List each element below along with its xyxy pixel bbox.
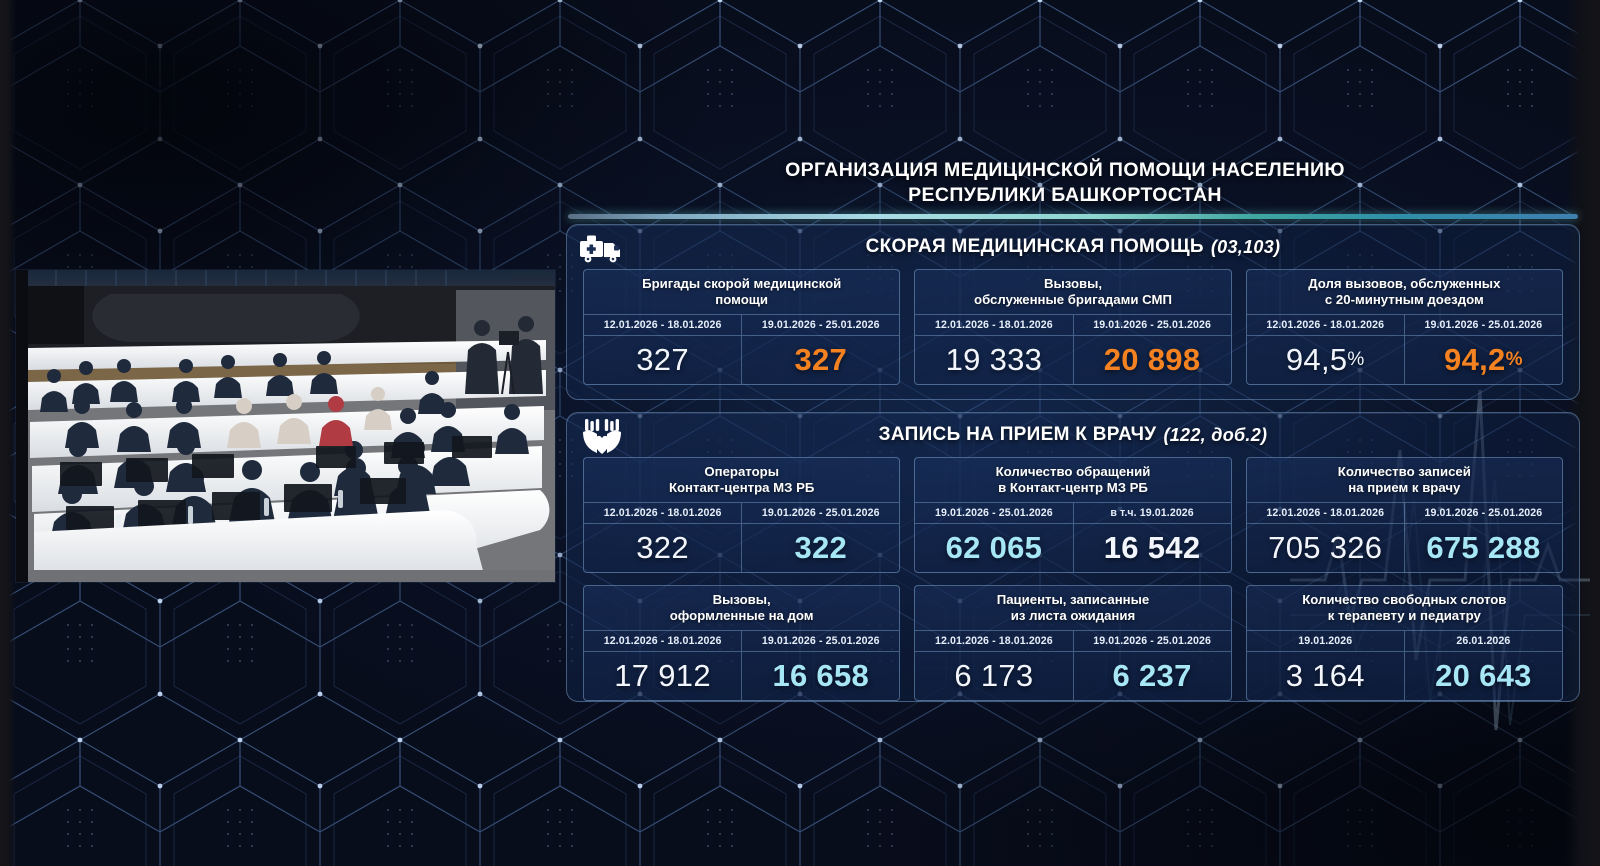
- card-values: 327 327: [584, 336, 899, 384]
- card-value-col1: 327: [584, 336, 741, 384]
- card-value-col1: 322: [584, 524, 741, 572]
- card-emergency-20min-share: Доля вызовов, обслуженных с 20-минутным …: [1246, 269, 1563, 385]
- card-date-col1: 12.01.2026 - 18.01.2026: [584, 631, 741, 651]
- card-title: Вызовы, оформленные на дом: [584, 586, 899, 630]
- card-title-line2: к терапевту и педиатру: [1328, 608, 1481, 624]
- card-values: 62 065 16 542: [915, 524, 1230, 572]
- card-date-col1: 12.01.2026 - 18.01.2026: [584, 503, 741, 523]
- card-date-col2: 19.01.2026 - 25.01.2026: [1404, 315, 1562, 335]
- appointment-cards-row-2: Вызовы, оформленные на дом 12.01.2026 - …: [567, 585, 1579, 701]
- card-date-headers: 12.01.2026 - 18.01.2026 19.01.2026 - 25.…: [1247, 314, 1562, 336]
- card-emergency-brigades: Бригады скорой медицинской помощи 12.01.…: [583, 269, 900, 385]
- panel-appointment-header: ЗАПИСЬ НА ПРИЕМ К ВРАЧУ (122, доб.2): [567, 413, 1579, 457]
- card-title-line1: Количество записей: [1338, 464, 1471, 480]
- card-date-col1: 12.01.2026 - 18.01.2026: [1247, 503, 1404, 523]
- card-value-col2: 16 542: [1073, 524, 1231, 572]
- card-value-col1: 3 164: [1247, 652, 1404, 700]
- emergency-cards-row: Бригады скорой медицинской помощи 12.01.…: [567, 269, 1579, 385]
- card-date-headers: 12.01.2026 - 18.01.2026 19.01.2026 - 25.…: [584, 630, 899, 652]
- card-title-line2: на прием к врачу: [1348, 480, 1460, 496]
- panel-emergency-title: СКОРАЯ МЕДИЦИНСКАЯ ПОМОЩЬ: [866, 236, 1204, 258]
- card-date-col2: 19.01.2026 - 25.01.2026: [741, 503, 899, 523]
- appointment-cards-row-1: Операторы Контакт-центра МЗ РБ 12.01.202…: [567, 457, 1579, 573]
- card-date-headers: 12.01.2026 - 18.01.2026 19.01.2026 - 25.…: [1247, 502, 1562, 524]
- card-title-line1: Вызовы,: [713, 592, 771, 608]
- card-title-line1: Пациенты, записанные: [997, 592, 1150, 608]
- card-title: Вызовы, обслуженные бригадами СМП: [915, 270, 1230, 314]
- card-date-headers: 12.01.2026 - 18.01.2026 19.01.2026 - 25.…: [915, 314, 1230, 336]
- value-unit: %: [1347, 349, 1364, 371]
- card-value-col2: 322: [741, 524, 899, 572]
- card-date-headers: 19.01.2026 - 25.01.2026 в т.ч. 19.01.202…: [915, 502, 1230, 524]
- card-date-col1: 12.01.2026 - 18.01.2026: [915, 631, 1072, 651]
- card-contact-center-operators: Операторы Контакт-центра МЗ РБ 12.01.202…: [583, 457, 900, 573]
- panel-appointment-phone: (122, доб.2): [1163, 425, 1267, 446]
- card-date-col1: 12.01.2026 - 18.01.2026: [915, 315, 1072, 335]
- card-title-line2: помощи: [715, 292, 768, 308]
- panel-doctor-appointment: ЗАПИСЬ НА ПРИЕМ К ВРАЧУ (122, доб.2) Опе…: [566, 412, 1580, 702]
- slide-title-line2: РЕСПУБЛИКИ БАШКОРТОСТАН: [560, 183, 1570, 208]
- card-date-col1: 19.01.2026: [1247, 631, 1404, 651]
- card-title-line1: Количество свободных слотов: [1302, 592, 1506, 608]
- card-date-col2: 26.01.2026: [1404, 631, 1562, 651]
- ambulance-icon-svg: [579, 233, 625, 265]
- panel-emergency-phone: (03,103): [1211, 237, 1280, 258]
- card-title-line2: в Контакт-центр МЗ РБ: [998, 480, 1148, 496]
- ambulance-icon: [577, 229, 627, 269]
- card-value-col1: 62 065: [915, 524, 1072, 572]
- card-date-col2: 19.01.2026 - 25.01.2026: [1404, 503, 1562, 523]
- card-title: Количество обращений в Контакт-центр МЗ …: [915, 458, 1230, 502]
- card-value-col1: 705 326: [1247, 524, 1404, 572]
- card-title: Количество записей на прием к врачу: [1247, 458, 1562, 502]
- card-value-col1: 6 173: [915, 652, 1072, 700]
- card-values: 705 326 675 288: [1247, 524, 1562, 572]
- card-value-col1: 17 912: [584, 652, 741, 700]
- presentation-slide: ОРГАНИЗАЦИЯ МЕДИЦИНСКОЙ ПОМОЩИ НАСЕЛЕНИЮ…: [0, 0, 1600, 866]
- card-date-col2: в т.ч. 19.01.2026: [1073, 503, 1231, 523]
- card-title-line2: оформленные на дом: [670, 608, 814, 624]
- card-values: 17 912 16 658: [584, 652, 899, 700]
- card-date-headers: 19.01.2026 26.01.2026: [1247, 630, 1562, 652]
- hands-heart-icon-svg: [581, 418, 623, 456]
- left-edge-bar: [0, 0, 16, 866]
- card-appointment-records: Количество записей на прием к врачу 12.0…: [1246, 457, 1563, 573]
- card-value-col2: 16 658: [741, 652, 899, 700]
- card-value-col2: 20 643: [1404, 652, 1562, 700]
- card-waiting-list-patients: Пациенты, записанные из листа ожидания 1…: [914, 585, 1231, 701]
- card-date-col1: 19.01.2026 - 25.01.2026: [915, 503, 1072, 523]
- slide-title: ОРГАНИЗАЦИЯ МЕДИЦИНСКОЙ ПОМОЩИ НАСЕЛЕНИЮ…: [560, 158, 1570, 208]
- card-free-slots: Количество свободных слотов к терапевту …: [1246, 585, 1563, 701]
- slide-title-line1: ОРГАНИЗАЦИЯ МЕДИЦИНСКОЙ ПОМОЩИ НАСЕЛЕНИЮ: [785, 159, 1345, 181]
- card-title: Бригады скорой медицинской помощи: [584, 270, 899, 314]
- card-title-line1: Вызовы,: [1044, 276, 1102, 292]
- hands-heart-icon: [577, 417, 627, 457]
- card-values: 6 173 6 237: [915, 652, 1230, 700]
- card-title-line1: Операторы: [704, 464, 779, 480]
- card-title: Доля вызовов, обслуженных с 20-минутным …: [1247, 270, 1562, 314]
- card-date-headers: 12.01.2026 - 18.01.2026 19.01.2026 - 25.…: [915, 630, 1230, 652]
- panel-appointment-title: ЗАПИСЬ НА ПРИЕМ К ВРАЧУ: [879, 424, 1157, 446]
- card-title-line1: Количество обращений: [996, 464, 1151, 480]
- card-title-line2: с 20-минутным доездом: [1325, 292, 1484, 308]
- card-value-col2: 6 237: [1073, 652, 1231, 700]
- card-value-col2: 94,2%: [1404, 336, 1562, 384]
- title-accent-rule: [568, 214, 1578, 219]
- card-values: 3 164 20 643: [1247, 652, 1562, 700]
- card-date-col2: 19.01.2026 - 25.01.2026: [1073, 315, 1231, 335]
- card-title-line2: обслуженные бригадами СМП: [974, 292, 1172, 308]
- card-title-line2: из листа ожидания: [1011, 608, 1135, 624]
- card-values: 94,5% 94,2%: [1247, 336, 1562, 384]
- card-date-col2: 19.01.2026 - 25.01.2026: [741, 631, 899, 651]
- card-home-visit-calls: Вызовы, оформленные на дом 12.01.2026 - …: [583, 585, 900, 701]
- panel-emergency-header: СКОРАЯ МЕДИЦИНСКАЯ ПОМОЩЬ (03,103): [567, 225, 1579, 269]
- card-value-col1: 19 333: [915, 336, 1072, 384]
- card-date-headers: 12.01.2026 - 18.01.2026 19.01.2026 - 25.…: [584, 502, 899, 524]
- card-value-col2: 20 898: [1073, 336, 1231, 384]
- panel-emergency-care: СКОРАЯ МЕДИЦИНСКАЯ ПОМОЩЬ (03,103) Брига…: [566, 224, 1580, 400]
- card-value-col2: 327: [741, 336, 899, 384]
- card-title-line2: Контакт-центра МЗ РБ: [669, 480, 814, 496]
- card-date-col1: 12.01.2026 - 18.01.2026: [1247, 315, 1404, 335]
- card-emergency-calls-served: Вызовы, обслуженные бригадами СМП 12.01.…: [914, 269, 1231, 385]
- video-feed-panel[interactable]: [16, 270, 555, 582]
- value-unit: %: [1506, 349, 1523, 371]
- card-title: Операторы Контакт-центра МЗ РБ: [584, 458, 899, 502]
- card-value-col2: 675 288: [1404, 524, 1562, 572]
- card-contact-center-requests: Количество обращений в Контакт-центр МЗ …: [914, 457, 1231, 573]
- value-number: 94,5: [1286, 342, 1348, 378]
- card-title: Количество свободных слотов к терапевту …: [1247, 586, 1562, 630]
- conference-hall-video: [16, 270, 555, 582]
- card-date-col1: 12.01.2026 - 18.01.2026: [584, 315, 741, 335]
- card-title-line1: Доля вызовов, обслуженных: [1308, 276, 1500, 292]
- card-date-col2: 19.01.2026 - 25.01.2026: [1073, 631, 1231, 651]
- card-values: 322 322: [584, 524, 899, 572]
- card-value-col1: 94,5%: [1247, 336, 1404, 384]
- card-values: 19 333 20 898: [915, 336, 1230, 384]
- card-date-headers: 12.01.2026 - 18.01.2026 19.01.2026 - 25.…: [584, 314, 899, 336]
- card-title-line1: Бригады скорой медицинской: [642, 276, 841, 292]
- card-date-col2: 19.01.2026 - 25.01.2026: [741, 315, 899, 335]
- value-number: 94,2: [1444, 342, 1506, 378]
- card-title: Пациенты, записанные из листа ожидания: [915, 586, 1230, 630]
